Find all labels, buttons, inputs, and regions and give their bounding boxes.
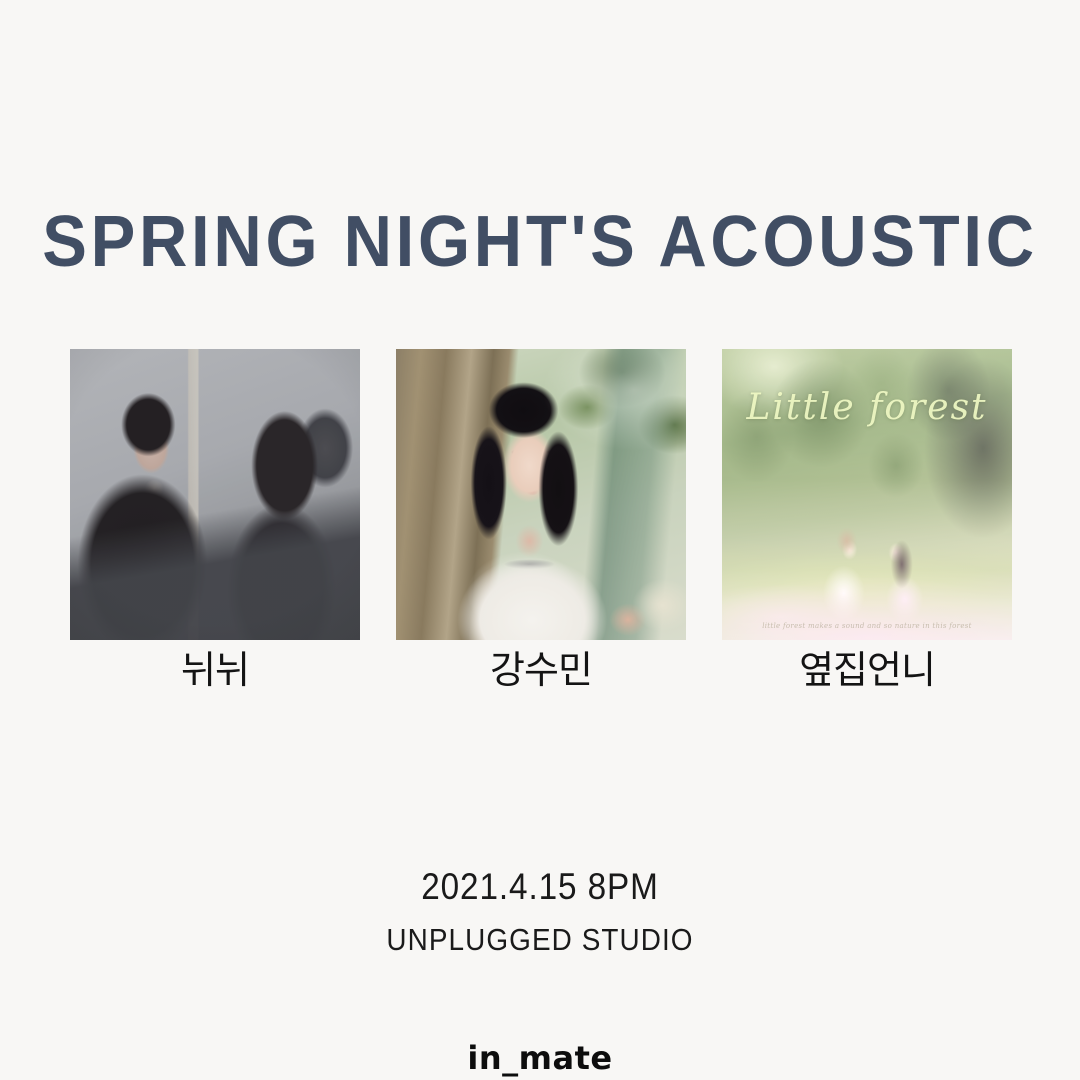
artist-photo-3[interactable]: Little forest little forest makes a soun… — [722, 349, 1012, 640]
artist-name-1: 뉘뉘 — [70, 650, 360, 692]
artist-photo-row: Little forest little forest makes a soun… — [70, 349, 1012, 640]
artist-names-row: 뉘뉘 강수민 옆집언니 — [70, 650, 1012, 692]
little-forest-script-overlay: Little forest — [722, 387, 1012, 428]
brand-logo: in_mate — [0, 1039, 1080, 1077]
event-venue: UNPLUGGED STUDIO — [54, 922, 1026, 958]
artist-name-3: 옆집언니 — [722, 650, 1012, 692]
little-forest-caption-overlay: little forest makes a sound and so natur… — [722, 622, 1012, 630]
poster-canvas: SPRING NIGHT'S ACOUSTIC Little forest li… — [0, 0, 1080, 1080]
event-date: 2021.4.15 8PM — [54, 866, 1026, 909]
event-info: 2021.4.15 8PM UNPLUGGED STUDIO — [0, 866, 1080, 958]
artist-photo-1[interactable] — [70, 349, 360, 640]
artist-photo-2[interactable] — [396, 349, 686, 640]
page-title: SPRING NIGHT'S ACOUSTIC — [38, 206, 1042, 278]
artist-name-2: 강수민 — [396, 650, 686, 692]
